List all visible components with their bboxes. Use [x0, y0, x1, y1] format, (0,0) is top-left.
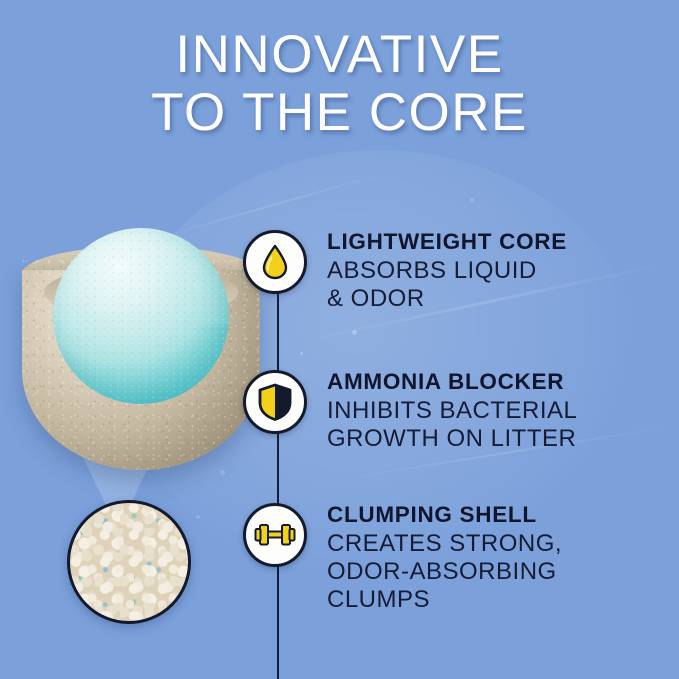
feature-text: CLUMPING SHELL CREATES STRONG, ODOR-ABSO… — [327, 502, 673, 614]
feature-icon-badge — [243, 503, 307, 567]
page-title: INNOVATIVE TO THE CORE — [0, 26, 679, 142]
feature-heading: AMMONIA BLOCKER — [327, 369, 673, 395]
dumbbell-icon — [253, 520, 297, 550]
feature-icon-badge — [243, 230, 307, 294]
core-lower-shading — [53, 324, 229, 416]
background-sparkle — [470, 198, 474, 202]
feature-text: AMMONIA BLOCKER INHIBITS BACTERIAL GROWT… — [327, 369, 673, 453]
feature-heading: LIGHTWEIGHT CORE — [327, 229, 673, 255]
product-infographic: INNOVATIVE TO THE CORE LIGHTWEIGHT COR — [0, 0, 679, 679]
feature-text: LIGHTWEIGHT CORE ABSORBS LIQUID & ODOR — [327, 229, 673, 313]
product-illustration — [12, 228, 264, 628]
feature-body: CREATES STRONG, ODOR-ABSORBING CLUMPS — [327, 530, 673, 614]
feature-body: ABSORBS LIQUID & ODOR — [327, 257, 673, 313]
background-sparkle — [352, 330, 357, 335]
feature-heading: CLUMPING SHELL — [327, 502, 673, 528]
feature-icon-badge — [243, 370, 307, 434]
shield-icon — [256, 382, 294, 422]
background-sparkle — [300, 352, 303, 355]
droplet-icon — [255, 242, 295, 282]
magnified-litter-granules — [67, 500, 191, 624]
feature-body: INHIBITS BACTERIAL GROWTH ON LITTER — [327, 397, 673, 453]
callout-connector-line — [277, 290, 279, 679]
